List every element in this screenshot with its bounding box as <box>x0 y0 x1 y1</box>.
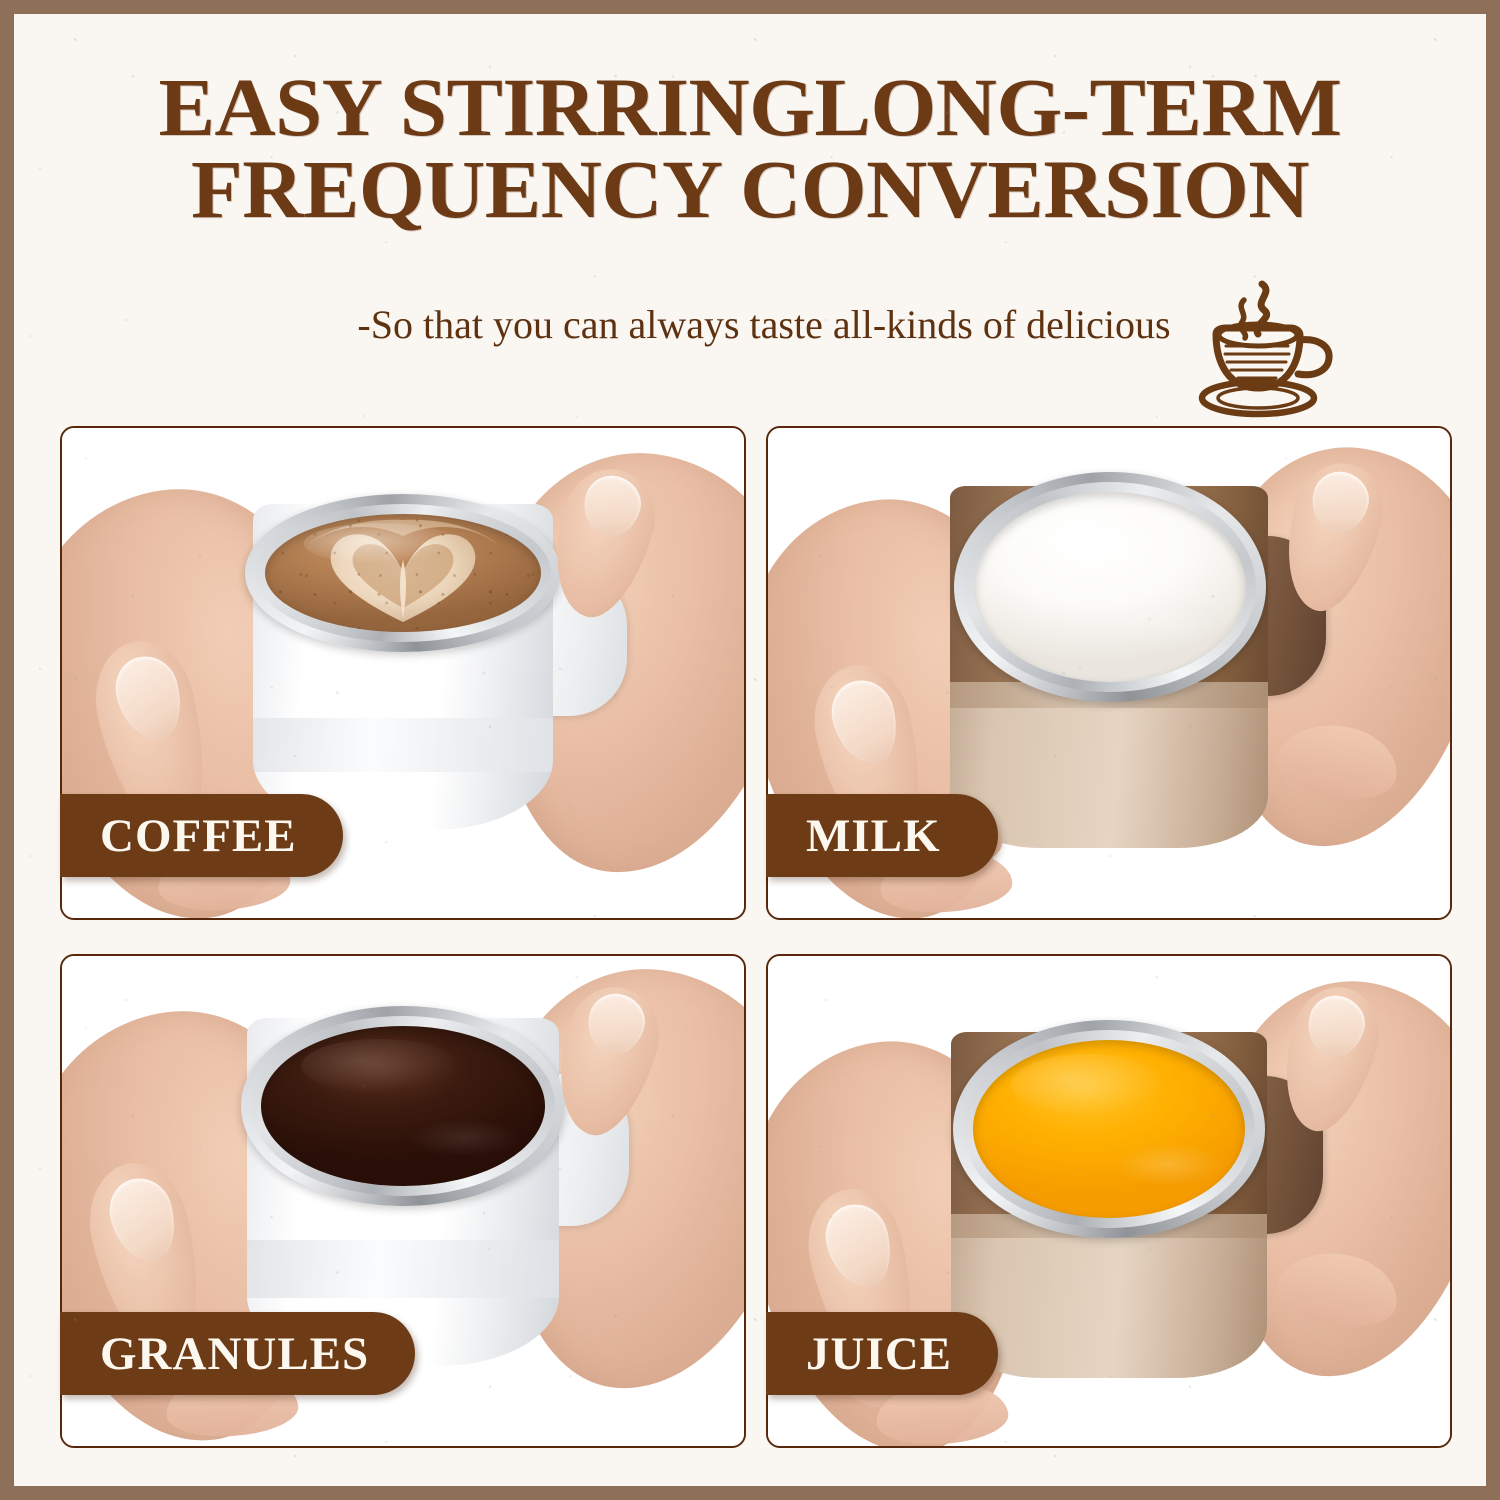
subtitle: -So that you can always taste all-kinds … <box>284 303 1244 348</box>
usage-card-milk[interactable]: MILK <box>766 426 1452 920</box>
headline-line-1: EASY STIRRINGLONG-TERM <box>159 61 1342 153</box>
badge-granules: GRANULES <box>60 1312 415 1395</box>
poster-canvas: EASY STIRRINGLONG-TERM FREQUENCY CONVERS… <box>14 14 1486 1486</box>
usage-card-coffee[interactable]: COFFEE <box>60 426 746 920</box>
usage-card-granules[interactable]: GRANULES <box>60 954 746 1448</box>
mug-coffee <box>253 504 553 830</box>
liquid-surface-coffee <box>265 514 541 632</box>
badge-juice: JUICE <box>766 1312 998 1395</box>
mug-steel-rim <box>954 472 1266 702</box>
headline-line-2: FREQUENCY CONVERSION <box>14 148 1486 230</box>
badge-label: COFFEE <box>100 809 297 863</box>
badge-label: JUICE <box>806 1327 952 1381</box>
mug-steel-rim <box>245 494 561 652</box>
usage-card-grid: COFFEE <box>60 426 1452 1472</box>
mug-steel-rim <box>241 1006 565 1206</box>
liquid-surface-granules <box>261 1026 545 1186</box>
badge-milk: MILK <box>766 794 998 877</box>
liquid-surface-juice <box>973 1040 1245 1218</box>
page-title: EASY STIRRINGLONG-TERM FREQUENCY CONVERS… <box>14 66 1486 230</box>
coffee-cup-icon <box>1192 276 1342 424</box>
badge-label: GRANULES <box>100 1327 369 1381</box>
liquid-surface-milk <box>974 492 1246 682</box>
mug-steel-rim <box>953 1020 1265 1238</box>
badge-coffee: COFFEE <box>60 794 343 877</box>
badge-label: MILK <box>806 809 941 863</box>
usage-card-juice[interactable]: JUICE <box>766 954 1452 1448</box>
mug-juice <box>951 1032 1267 1378</box>
mug-milk <box>950 486 1268 848</box>
product-infographic-poster: EASY STIRRINGLONG-TERM FREQUENCY CONVERS… <box>0 0 1500 1500</box>
